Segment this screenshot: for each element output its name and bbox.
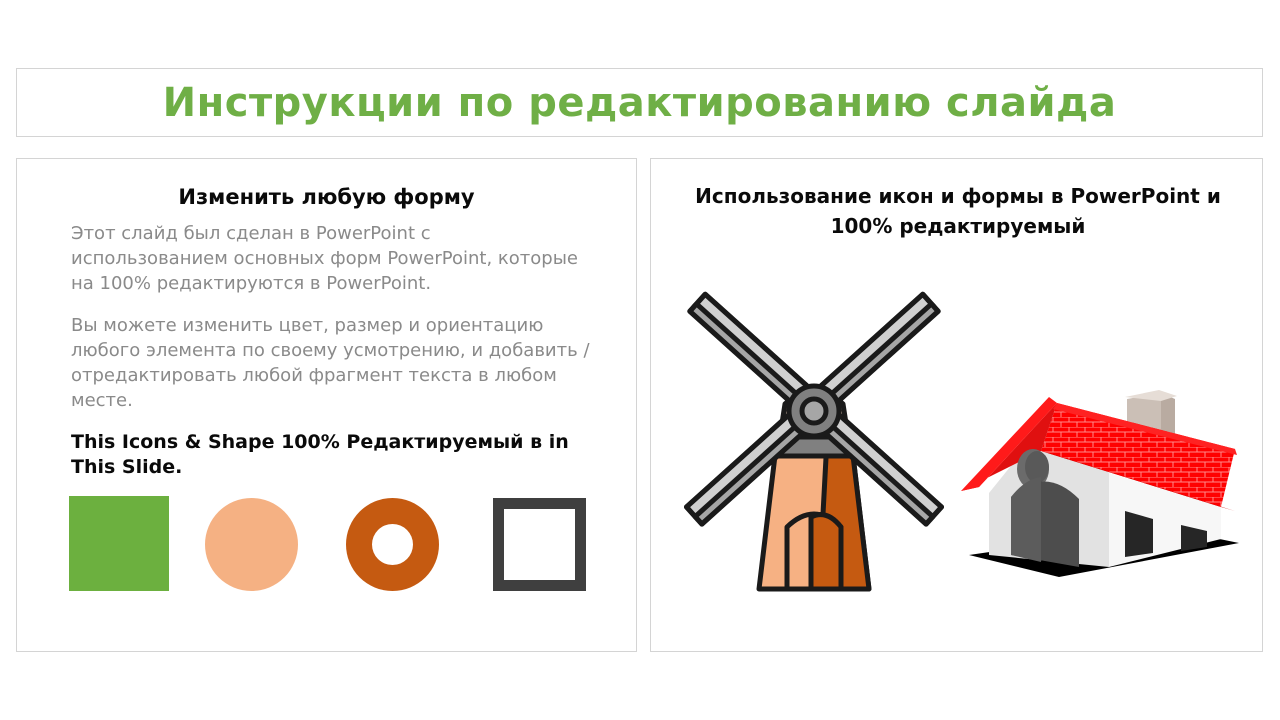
paragraph-one: Этот слайд был сделан в PowerPoint с исп…: [71, 221, 591, 296]
left-panel-heading: Изменить любую форму: [17, 185, 636, 209]
shape-circle-filled[interactable]: [205, 498, 298, 591]
left-panel: Изменить любую форму Этот слайд был сдел…: [16, 158, 637, 652]
donut-hole: [372, 524, 413, 565]
editable-note: This Icons & Shape 100% Редактируемый в …: [71, 430, 591, 480]
paragraph-two: Вы можете изменить цвет, размер и ориент…: [71, 313, 591, 413]
shape-square-filled[interactable]: [69, 496, 169, 591]
right-panel: Использование икон и формы в PowerPoint …: [650, 158, 1263, 652]
right-panel-heading-line-2: 100% редактируемый: [831, 214, 1086, 238]
page-title: Инструкции по редактированию слайда: [163, 83, 1117, 123]
right-panel-heading: Использование икон и формы в PowerPoint …: [673, 181, 1243, 241]
slide-title-box: Инструкции по редактированию слайда: [16, 68, 1263, 137]
right-panel-heading-line-1: Использование икон и формы в PowerPoint …: [695, 184, 1221, 208]
shapes-row: [69, 496, 609, 601]
left-panel-body: Этот слайд был сделан в PowerPoint с исп…: [71, 221, 591, 480]
shape-donut[interactable]: [346, 498, 439, 591]
windmill-icon[interactable]: [659, 289, 969, 599]
shape-square-outline[interactable]: [493, 498, 586, 591]
house-icon[interactable]: [949, 387, 1249, 592]
